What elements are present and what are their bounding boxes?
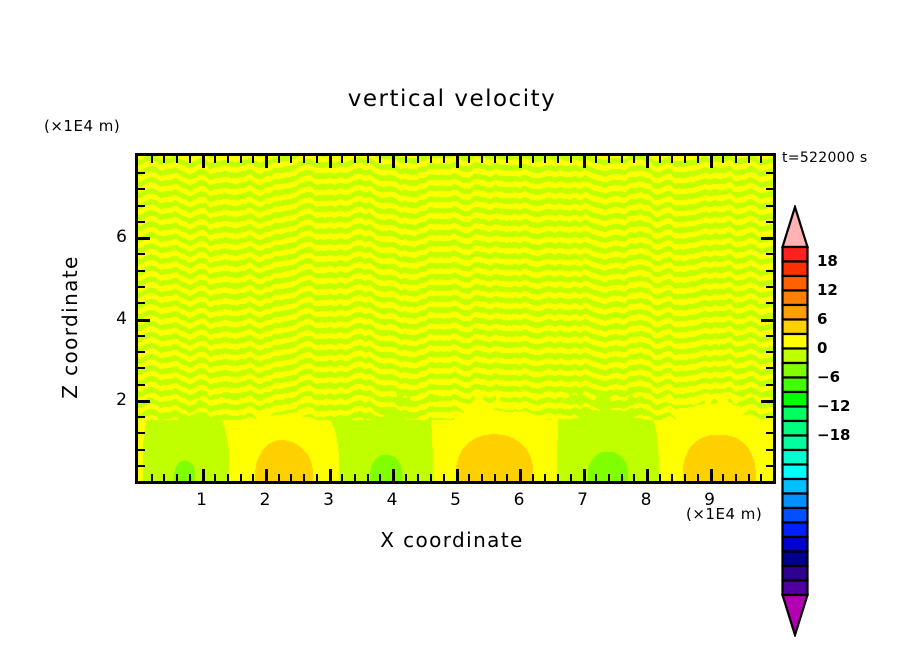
x-tick-top	[303, 156, 305, 163]
y-tick	[138, 384, 145, 386]
y-tick-label: 6	[101, 227, 127, 247]
x-tick	[316, 474, 318, 481]
x-tick-top	[417, 156, 419, 163]
x-tick	[684, 474, 686, 481]
x-tick-top	[290, 156, 292, 163]
x-tick	[214, 474, 216, 481]
x-tick	[379, 474, 381, 481]
x-tick-label: 1	[187, 490, 217, 510]
colorbar-band	[783, 334, 808, 349]
y-tick-right	[766, 449, 773, 451]
colorbar	[781, 205, 809, 523]
x-tick	[646, 469, 649, 481]
x-tick-top	[379, 156, 381, 163]
x-tick	[265, 469, 268, 481]
x-tick-top	[621, 156, 623, 163]
x-tick	[557, 474, 559, 481]
x-tick-top	[176, 156, 178, 163]
y-tick	[138, 253, 145, 255]
y-tick	[138, 335, 145, 337]
x-tick-top	[443, 156, 445, 163]
x-tick	[519, 469, 522, 481]
x-tick	[303, 474, 305, 481]
colorbar-band	[783, 349, 808, 364]
colorbar-band	[783, 378, 808, 393]
x-tick-top	[163, 156, 165, 163]
x-tick-top	[748, 156, 750, 163]
colorbar-band	[783, 363, 808, 378]
x-tick	[176, 474, 178, 481]
x-tick	[494, 474, 496, 481]
x-tick-top	[722, 156, 724, 163]
x-tick-top	[252, 156, 254, 163]
colorbar-band	[783, 407, 808, 422]
x-tick	[595, 474, 597, 481]
y-tick-right	[766, 188, 773, 190]
x-tick-top	[519, 156, 522, 168]
x-axis-unit-label: (×1E4 m)	[686, 505, 762, 523]
y-tick	[138, 286, 145, 288]
colorbar-band	[783, 291, 808, 306]
x-tick	[329, 469, 332, 481]
y-axis-unit-label: (×1E4 m)	[44, 117, 120, 135]
y-tick-right	[766, 172, 773, 174]
x-tick	[151, 474, 153, 481]
x-tick-top	[671, 156, 673, 163]
y-tick-right	[766, 286, 773, 288]
x-tick-top	[646, 156, 649, 168]
y-tick	[138, 205, 145, 207]
x-tick	[722, 474, 724, 481]
x-tick	[608, 474, 610, 481]
y-tick-right	[766, 432, 773, 434]
x-tick-top	[278, 156, 280, 163]
colorbar-band	[783, 566, 808, 581]
x-tick	[735, 474, 737, 481]
x-tick-label: 4	[377, 490, 407, 510]
time-annotation: t=522000 s	[782, 150, 867, 166]
x-tick-label: 7	[568, 490, 598, 510]
x-tick	[506, 474, 508, 481]
x-tick-top	[214, 156, 216, 163]
x-tick-top	[481, 156, 483, 163]
colorbar-band	[783, 450, 808, 465]
y-tick-right	[761, 400, 773, 403]
x-tick-top	[468, 156, 470, 163]
colorbar-band	[783, 305, 808, 320]
y-tick	[138, 351, 145, 353]
x-tick-top	[354, 156, 356, 163]
x-tick-top	[151, 156, 153, 163]
x-tick-label: 8	[631, 490, 661, 510]
x-tick-top	[583, 156, 586, 168]
x-tick	[583, 469, 586, 481]
x-tick-top	[506, 156, 508, 163]
y-axis-title: Z coordinate	[58, 217, 82, 437]
x-tick	[354, 474, 356, 481]
x-tick-top	[570, 156, 572, 163]
x-tick-top	[240, 156, 242, 163]
x-tick-top	[430, 156, 432, 163]
y-tick-right	[766, 302, 773, 304]
colorbar-band	[783, 523, 808, 538]
y-tick-right	[766, 367, 773, 369]
x-tick	[443, 474, 445, 481]
x-axis-title: X coordinate	[0, 528, 904, 552]
x-tick	[633, 474, 635, 481]
colorbar-band	[783, 247, 808, 262]
x-tick	[468, 474, 470, 481]
x-tick	[544, 474, 546, 481]
colorbar-band	[783, 581, 808, 596]
x-tick	[481, 474, 483, 481]
x-tick-top	[684, 156, 686, 163]
y-tick-right	[766, 335, 773, 337]
colorbar-band	[783, 276, 808, 291]
y-tick	[138, 319, 150, 322]
x-tick	[252, 474, 254, 481]
x-tick	[659, 474, 661, 481]
colorbar-tick-label: −6	[817, 368, 840, 386]
y-tick	[138, 270, 145, 272]
x-tick-top	[633, 156, 635, 163]
x-tick-top	[202, 156, 205, 168]
x-tick-label: 3	[314, 490, 344, 510]
x-tick	[278, 474, 280, 481]
colorbar-tick-label: 0	[817, 339, 827, 357]
contour-canvas	[138, 156, 773, 481]
y-tick	[138, 188, 145, 190]
y-tick	[138, 367, 145, 369]
x-tick-top	[608, 156, 610, 163]
y-tick	[138, 221, 145, 223]
y-tick	[138, 449, 145, 451]
y-tick	[138, 172, 145, 174]
colorbar-svg	[781, 205, 809, 637]
x-tick	[290, 474, 292, 481]
x-tick-top	[760, 156, 762, 163]
y-tick	[138, 416, 145, 418]
x-tick	[697, 474, 699, 481]
y-tick-right	[766, 270, 773, 272]
x-tick	[710, 469, 713, 481]
x-tick	[621, 474, 623, 481]
x-tick-top	[392, 156, 395, 168]
x-tick	[570, 474, 572, 481]
colorbar-band	[783, 320, 808, 335]
y-tick-right	[766, 384, 773, 386]
y-tick	[138, 400, 150, 403]
x-tick	[163, 474, 165, 481]
x-tick-top	[494, 156, 496, 163]
y-tick	[138, 302, 145, 304]
x-tick-top	[341, 156, 343, 163]
page-title: vertical velocity	[0, 86, 904, 112]
colorbar-band	[783, 479, 808, 494]
x-tick	[240, 474, 242, 481]
y-tick	[138, 432, 145, 434]
colorbar-band	[783, 392, 808, 407]
y-tick-right	[766, 205, 773, 207]
x-tick-top	[544, 156, 546, 163]
colorbar-band	[783, 508, 808, 523]
figure-root: vertical velocity (×1E4 m) t=522000 s 12…	[0, 0, 904, 654]
x-tick-top	[316, 156, 318, 163]
x-tick-top	[735, 156, 737, 163]
x-tick-top	[265, 156, 268, 168]
x-tick-top	[367, 156, 369, 163]
x-tick-top	[659, 156, 661, 163]
colorbar-tick-label: −18	[817, 426, 850, 444]
x-tick-top	[710, 156, 713, 168]
colorbar-tick-label: −12	[817, 397, 850, 415]
x-tick	[202, 469, 205, 481]
colorbar-over-arrow	[783, 207, 808, 247]
colorbar-tick-label: 18	[817, 252, 838, 270]
x-tick	[760, 474, 762, 481]
x-tick	[227, 474, 229, 481]
y-tick-right	[766, 221, 773, 223]
y-tick-label: 4	[101, 309, 127, 329]
y-tick-right	[766, 253, 773, 255]
x-tick-top	[329, 156, 332, 168]
x-tick	[189, 474, 191, 481]
x-tick-top	[557, 156, 559, 163]
x-tick	[405, 474, 407, 481]
y-tick-right	[761, 319, 773, 322]
x-tick	[392, 469, 395, 481]
colorbar-band	[783, 537, 808, 552]
x-tick	[532, 474, 534, 481]
x-tick-top	[532, 156, 534, 163]
colorbar-tick-label: 6	[817, 310, 827, 328]
contour-plot-area	[135, 153, 776, 484]
y-tick-label: 2	[101, 390, 127, 410]
y-tick-right	[766, 351, 773, 353]
x-tick-top	[456, 156, 459, 168]
x-tick-label: 2	[250, 490, 280, 510]
x-tick-top	[697, 156, 699, 163]
x-tick	[671, 474, 673, 481]
y-tick-right	[761, 237, 773, 240]
colorbar-band	[783, 465, 808, 480]
x-tick-top	[405, 156, 407, 163]
x-tick	[341, 474, 343, 481]
y-tick	[138, 465, 145, 467]
x-tick-top	[595, 156, 597, 163]
x-tick-top	[227, 156, 229, 163]
colorbar-band	[783, 262, 808, 277]
colorbar-band	[783, 421, 808, 436]
x-tick-label: 6	[504, 490, 534, 510]
colorbar-band	[783, 436, 808, 451]
x-tick	[456, 469, 459, 481]
y-tick-right	[766, 465, 773, 467]
colorbar-band	[783, 552, 808, 567]
x-tick-label: 5	[441, 490, 471, 510]
colorbar-band	[783, 494, 808, 509]
x-tick-top	[189, 156, 191, 163]
x-tick	[430, 474, 432, 481]
colorbar-under-arrow	[783, 595, 808, 635]
x-tick	[367, 474, 369, 481]
y-tick-right	[766, 416, 773, 418]
y-tick	[138, 237, 150, 240]
colorbar-tick-label: 12	[817, 281, 838, 299]
x-tick	[417, 474, 419, 481]
x-tick	[748, 474, 750, 481]
